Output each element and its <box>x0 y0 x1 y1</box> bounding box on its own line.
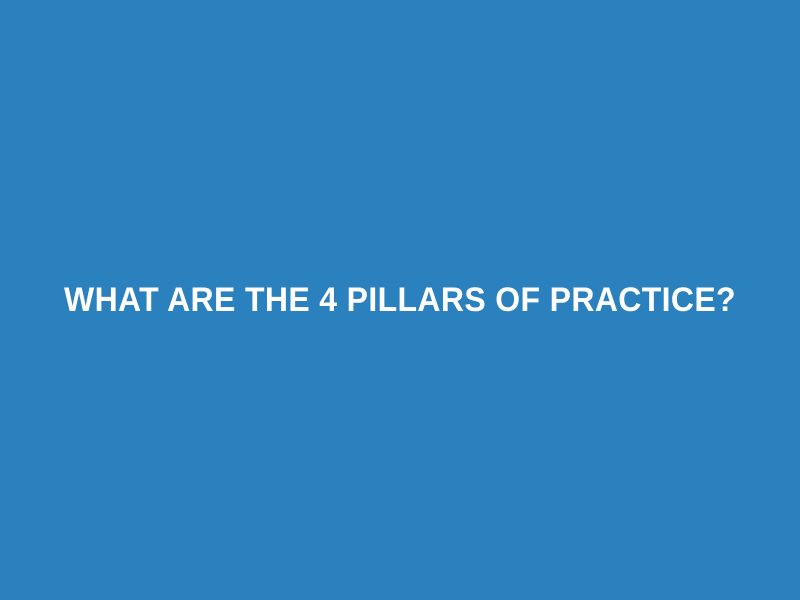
page-title: WHAT ARE THE 4 PILLARS OF PRACTICE? <box>62 280 739 320</box>
banner-content: WHAT ARE THE 4 PILLARS OF PRACTICE? <box>0 280 800 320</box>
hero-banner: WHAT ARE THE 4 PILLARS OF PRACTICE? <box>0 0 800 600</box>
